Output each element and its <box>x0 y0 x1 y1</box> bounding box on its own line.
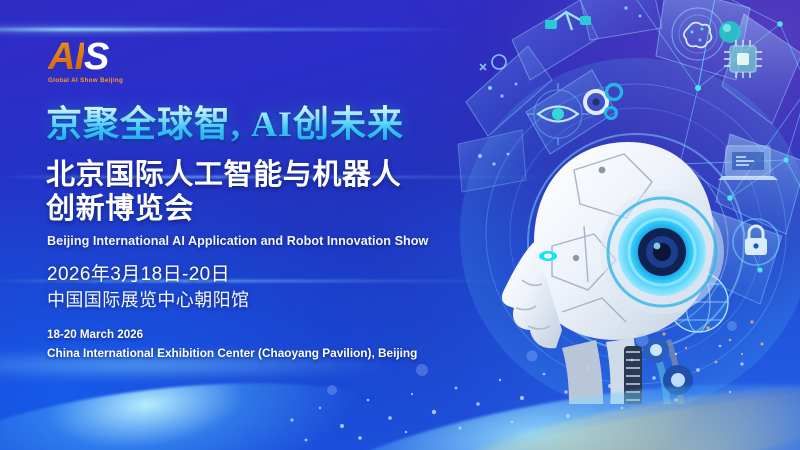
headline-slogan: 京聚全球智, AI创未来 <box>46 104 404 144</box>
english-event-meta: 18-20 March 2026 China International Exh… <box>47 326 417 363</box>
english-show-title: Beijing International AI Application and… <box>47 234 428 248</box>
poster-banner: AIS Global AI Show Beijing 京聚全球智, AI创未来 … <box>0 0 800 450</box>
ais-logo[interactable]: AIS Global AI Show Beijing <box>48 38 198 90</box>
particle-field <box>272 300 768 450</box>
event-venue-en: China International Exhibition Center (C… <box>47 344 417 363</box>
chinese-event-meta: 2026年3月18日-20日 中国国际展览中心朝阳馆 <box>47 262 249 313</box>
logo-ai-text: AI <box>48 36 84 78</box>
robot-optic-disc <box>600 190 724 314</box>
logo-s-text: S <box>84 36 108 78</box>
light-streak-top <box>0 28 464 31</box>
headline-title-line1: 北京国际人工智能与机器人 <box>46 158 401 192</box>
event-date-en: 18-20 March 2026 <box>47 326 417 344</box>
event-date-cn: 2026年3月18日-20日 <box>47 262 249 288</box>
sphere-node-icon <box>719 21 741 43</box>
logo-tagline: Global AI Show Beijing <box>48 77 198 85</box>
laptop-code-icon <box>718 146 778 180</box>
headline-title: 北京国际人工智能与机器人 创新博览会 <box>46 158 401 226</box>
event-venue-cn: 中国国际展览中心朝阳馆 <box>47 288 249 313</box>
light-streak-top-glow <box>0 24 288 35</box>
headline-title-line2: 创新博览会 <box>46 192 401 226</box>
logo-wordmark: AIS <box>48 38 198 76</box>
